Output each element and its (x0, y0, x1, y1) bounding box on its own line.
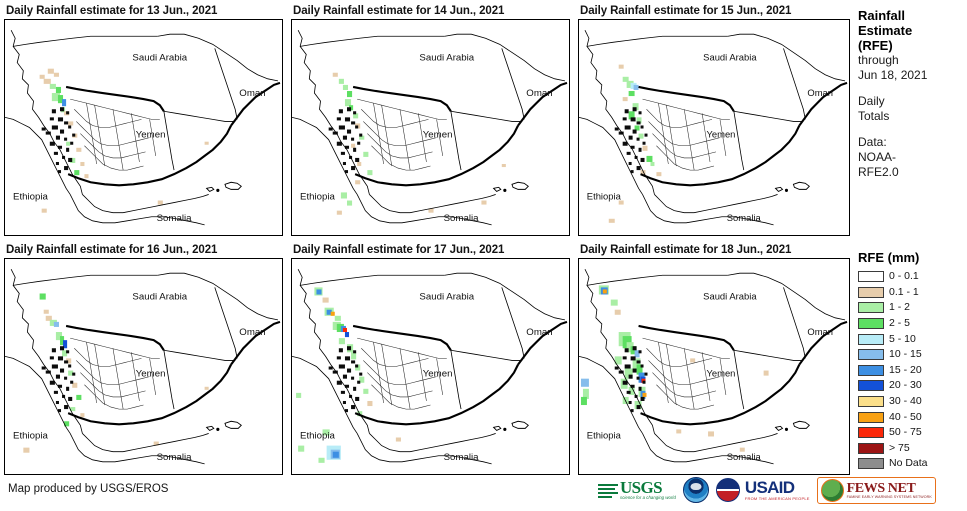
country-label-oman: Oman (807, 327, 833, 338)
map-svg: Saudi ArabiaOmanYemenEthiopiaSomalia (292, 20, 569, 235)
country-label-yemen: Yemen (706, 369, 735, 380)
noaa-seal-icon (683, 477, 709, 503)
map-canvas[interactable]: Saudi ArabiaOmanYemenEthiopiaSomalia (291, 19, 570, 236)
country-label-yemen: Yemen (423, 130, 453, 141)
legend-row: No Data (858, 456, 966, 472)
country-label-somalia: Somalia (727, 452, 762, 463)
legend-rows: 0 - 0.10.1 - 11 - 22 - 55 - 1010 - 1515 … (858, 269, 966, 472)
country-label-ethiopia: Ethiopia (587, 191, 622, 202)
fews-net-badge: FEWS NET FAMINE EARLY WARNING SYSTEMS NE… (817, 477, 936, 504)
country-label-yemen: Yemen (423, 369, 453, 380)
panel-14-jun: Daily Rainfall estimate for 14 Jun., 202… (291, 4, 570, 236)
sidebar-source-line-2: NOAA- (858, 150, 966, 165)
country-label-ethiopia: Ethiopia (587, 430, 622, 441)
sidebar-source-line-3: RFE2.0 (858, 165, 966, 180)
legend-row: 2 - 5 (858, 316, 966, 332)
map-svg: Saudi ArabiaOmanYemenEthiopiaSomalia (579, 20, 849, 235)
country-label-saudi-arabia: Saudi Arabia (703, 291, 757, 302)
country-label-saudi-arabia: Saudi Arabia (132, 53, 187, 64)
sidebar-title-line-1: Rainfall (858, 8, 966, 23)
country-label-yemen: Yemen (136, 130, 166, 141)
rfe-legend: RFE (mm) 0 - 0.10.1 - 11 - 22 - 55 - 101… (858, 250, 966, 472)
sidebar-subtitle-through: through (858, 53, 966, 68)
spacer (858, 83, 966, 94)
map-canvas[interactable]: Saudi ArabiaOmanYemenEthiopiaSomalia (4, 19, 283, 236)
legend-label: 40 - 50 (889, 412, 922, 423)
panel-title: Daily Rainfall estimate for 13 Jun., 202… (4, 4, 283, 19)
legend-title: RFE (mm) (858, 250, 966, 265)
legend-swatch (858, 318, 884, 329)
country-label-somalia: Somalia (727, 213, 762, 224)
country-label-ethiopia: Ethiopia (300, 192, 336, 203)
fews-globe-icon (821, 479, 844, 502)
map-svg: Saudi ArabiaOmanYemenEthiopiaSomalia (292, 259, 569, 474)
map-svg: Saudi ArabiaOmanYemenEthiopiaSomalia (5, 259, 282, 474)
legend-label: 30 - 40 (889, 396, 922, 407)
panel-title: Daily Rainfall estimate for 17 Jun., 202… (291, 243, 570, 258)
fews-net-tagline: FAMINE EARLY WARNING SYSTEMS NETWORK (847, 495, 932, 499)
legend-row: 15 - 20 (858, 363, 966, 379)
legend-label: 0 - 0.1 (889, 271, 919, 282)
usgs-logo-text: USGS (620, 480, 676, 495)
panel-title: Daily Rainfall estimate for 14 Jun., 202… (291, 4, 570, 19)
agency-logos: USGS science for a changing world USAID … (598, 474, 936, 506)
map-canvas[interactable]: Saudi ArabiaOmanYemenEthiopiaSomalia (578, 258, 850, 475)
country-label-saudi-arabia: Saudi Arabia (703, 52, 757, 63)
country-label-ethiopia: Ethiopia (13, 431, 49, 442)
country-label-somalia: Somalia (157, 452, 193, 463)
country-label-somalia: Somalia (444, 452, 480, 463)
country-label-somalia: Somalia (444, 213, 480, 224)
legend-swatch (858, 287, 884, 298)
legend-header: Rainfall Estimate (RFE) through Jun 18, … (858, 8, 966, 180)
country-label-oman: Oman (239, 88, 265, 99)
usaid-logo[interactable]: USAID FROM THE AMERICAN PEOPLE (716, 475, 810, 505)
usgs-wave-icon (598, 483, 618, 498)
legend-row: 40 - 50 (858, 409, 966, 425)
panel-16-jun: Daily Rainfall estimate for 16 Jun., 202… (4, 243, 283, 475)
legend-row: > 75 (858, 441, 966, 457)
legend-swatch (858, 396, 884, 407)
usgs-tagline: science for a changing world (620, 495, 676, 500)
legend-label: 20 - 30 (889, 380, 922, 391)
country-label-oman: Oman (526, 327, 552, 338)
country-label-oman: Oman (526, 88, 552, 99)
sidebar-period-line-2: Totals (858, 109, 966, 124)
country-label-somalia: Somalia (157, 213, 193, 224)
spacer (858, 124, 966, 135)
panel-18-jun: Daily Rainfall estimate for 18 Jun., 202… (578, 243, 850, 475)
map-canvas[interactable]: Saudi ArabiaOmanYemenEthiopiaSomalia (578, 19, 850, 236)
legend-swatch (858, 365, 884, 376)
legend-row: 10 - 15 (858, 347, 966, 363)
country-label-ethiopia: Ethiopia (300, 431, 336, 442)
legend-swatch (858, 443, 884, 454)
panel-15-jun: Daily Rainfall estimate for 15 Jun., 202… (578, 4, 850, 236)
map-svg: Saudi ArabiaOmanYemenEthiopiaSomalia (579, 259, 849, 474)
country-label-ethiopia: Ethiopia (13, 192, 49, 203)
legend-label: 2 - 5 (889, 318, 910, 329)
legend-swatch (858, 271, 884, 282)
legend-row: 0.1 - 1 (858, 285, 966, 301)
legend-label: 50 - 75 (889, 427, 922, 438)
country-label-saudi-arabia: Saudi Arabia (419, 53, 474, 64)
legend-label: 1 - 2 (889, 302, 910, 313)
map-canvas[interactable]: Saudi ArabiaOmanYemenEthiopiaSomalia (291, 258, 570, 475)
legend-swatch (858, 412, 884, 423)
country-label-oman: Oman (239, 327, 265, 338)
panel-title: Daily Rainfall estimate for 18 Jun., 202… (578, 243, 850, 258)
legend-label: 10 - 15 (889, 349, 922, 360)
country-label-yemen: Yemen (706, 130, 735, 141)
country-label-saudi-arabia: Saudi Arabia (419, 292, 474, 303)
legend-swatch (858, 458, 884, 469)
usaid-seal-icon (716, 478, 740, 502)
legend-row: 50 - 75 (858, 425, 966, 441)
country-label-saudi-arabia: Saudi Arabia (132, 292, 187, 303)
map-credit: Map produced by USGS/EROS (8, 483, 168, 495)
sidebar-period-line-1: Daily (858, 94, 966, 109)
noaa-logo[interactable] (683, 475, 709, 505)
sidebar-source-label: Data: (858, 135, 966, 150)
panel-17-jun: Daily Rainfall estimate for 17 Jun., 202… (291, 243, 570, 475)
legend-label: > 75 (889, 443, 910, 454)
fews-net-logo-text: FEWS NET (847, 482, 932, 495)
legend-label: 15 - 20 (889, 365, 922, 376)
sidebar-title-line-3: (RFE) (858, 38, 966, 53)
legend-swatch (858, 302, 884, 313)
legend-row: 0 - 0.1 (858, 269, 966, 285)
legend-swatch (858, 349, 884, 360)
usgs-logo[interactable]: USGS science for a changing world (598, 475, 676, 505)
legend-row: 30 - 40 (858, 394, 966, 410)
panel-13-jun: Daily Rainfall estimate for 13 Jun., 202… (4, 4, 283, 236)
sidebar-title-line-2: Estimate (858, 23, 966, 38)
country-label-yemen: Yemen (136, 369, 166, 380)
legend-swatch (858, 334, 884, 345)
legend-swatch (858, 380, 884, 391)
fews-net-logo[interactable]: FEWS NET FAMINE EARLY WARNING SYSTEMS NE… (817, 475, 936, 505)
legend-row: 1 - 2 (858, 300, 966, 316)
legend-row: 5 - 10 (858, 331, 966, 347)
usaid-tagline: FROM THE AMERICAN PEOPLE (745, 496, 810, 501)
legend-label: 0.1 - 1 (889, 287, 919, 298)
usaid-logo-text: USAID (745, 480, 810, 496)
panel-title: Daily Rainfall estimate for 15 Jun., 202… (578, 4, 850, 19)
legend-label: No Data (889, 458, 928, 469)
legend-row: 20 - 30 (858, 378, 966, 394)
sidebar-subtitle-date: Jun 18, 2021 (858, 68, 966, 83)
country-label-oman: Oman (807, 88, 833, 99)
map-svg: Saudi ArabiaOmanYemenEthiopiaSomalia (5, 20, 282, 235)
panel-title: Daily Rainfall estimate for 16 Jun., 202… (4, 243, 283, 258)
map-canvas[interactable]: Saudi ArabiaOmanYemenEthiopiaSomalia (4, 258, 283, 475)
legend-label: 5 - 10 (889, 334, 916, 345)
legend-swatch (858, 427, 884, 438)
